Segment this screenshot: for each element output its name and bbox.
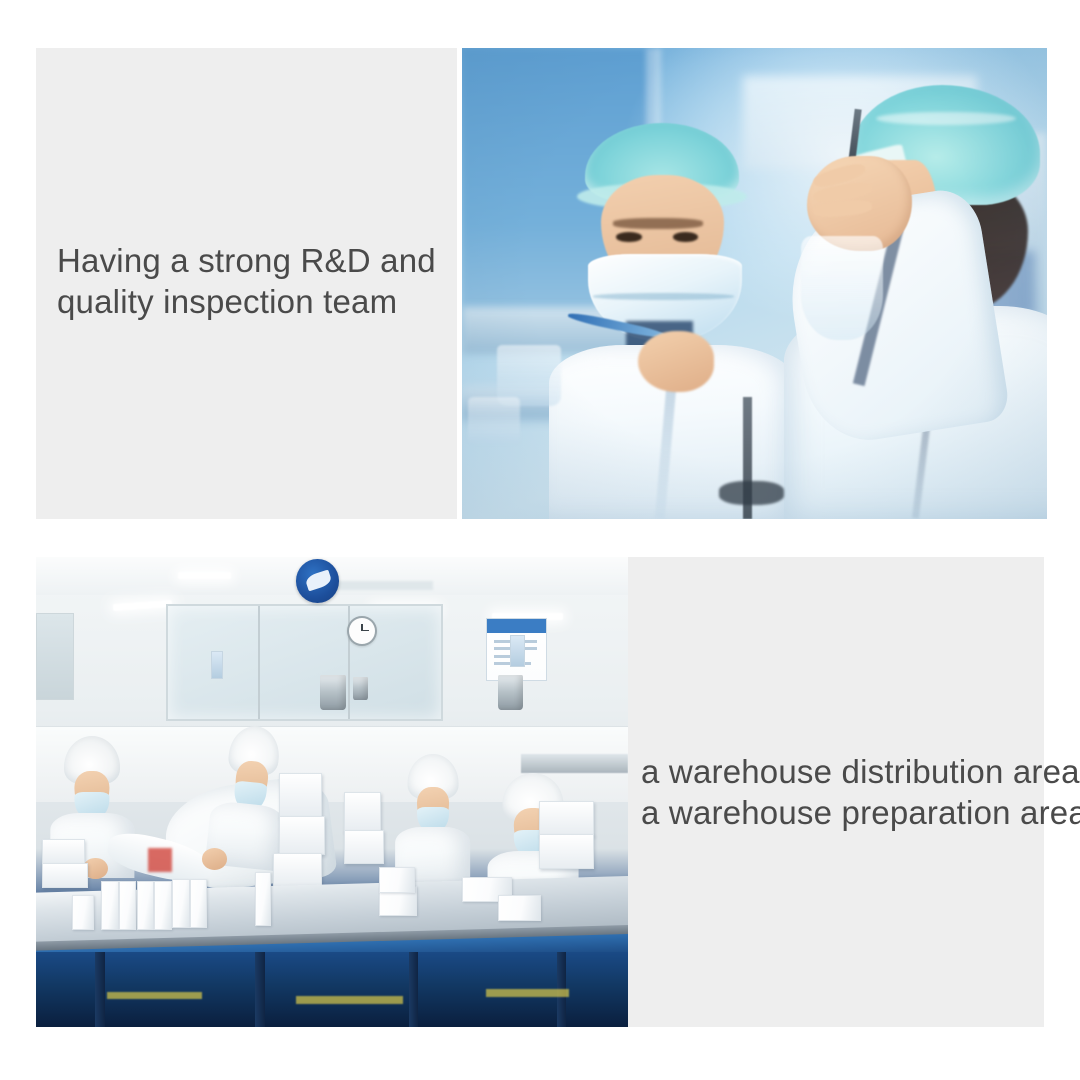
product-carton bbox=[137, 881, 154, 930]
carton-stack bbox=[279, 773, 322, 817]
stainless-container bbox=[498, 675, 523, 710]
worker-hand bbox=[202, 848, 227, 870]
carton-stack bbox=[42, 863, 88, 889]
lab-technicians-photo bbox=[462, 48, 1047, 519]
caption-warehouse-line-2: a warehouse preparation area bbox=[641, 792, 1080, 833]
caption-rd-line-2: quality inspection team bbox=[57, 281, 436, 322]
product-carton bbox=[154, 881, 171, 930]
product-carton bbox=[119, 881, 136, 930]
caption-rd-quality: Having a strong R&D and quality inspecti… bbox=[57, 240, 436, 322]
carton-stack bbox=[344, 830, 384, 865]
carton-stack bbox=[42, 839, 85, 865]
product-carton bbox=[172, 879, 189, 928]
caption-warehouse-areas: a warehouse distribution area a warehous… bbox=[641, 751, 1080, 833]
table-leg bbox=[95, 952, 104, 1027]
product-carton bbox=[379, 867, 414, 893]
carton-stack bbox=[344, 792, 382, 832]
floor-marking bbox=[107, 992, 202, 1000]
carton-stack bbox=[539, 834, 594, 869]
wall-clock-icon bbox=[347, 616, 377, 646]
floor-marking bbox=[296, 996, 403, 1004]
stainless-container bbox=[320, 675, 346, 710]
warehouse-packing-photo bbox=[36, 557, 628, 1027]
ceiling-light bbox=[178, 572, 231, 579]
wall-mounted-vial bbox=[211, 651, 224, 679]
page-root: Having a strong R&D and quality inspecti… bbox=[0, 0, 1080, 1080]
stainless-container bbox=[353, 677, 368, 701]
window-mullion bbox=[258, 606, 260, 719]
clock-minute-hand bbox=[361, 630, 368, 631]
red-object bbox=[148, 848, 172, 872]
product-carton bbox=[190, 879, 207, 928]
caption-rd-line-1: Having a strong R&D and bbox=[57, 240, 436, 281]
table-leg bbox=[409, 952, 418, 1027]
product-carton bbox=[72, 895, 94, 930]
blue-circular-sign-icon bbox=[296, 559, 339, 602]
cleanroom-window bbox=[166, 604, 442, 721]
table-leg bbox=[255, 952, 264, 1027]
notice-header bbox=[487, 619, 546, 632]
caption-warehouse-line-1: a warehouse distribution area bbox=[641, 751, 1080, 792]
product-carton bbox=[255, 872, 271, 926]
photo-vignette bbox=[462, 48, 1047, 519]
carton-stack bbox=[539, 801, 594, 836]
side-counter bbox=[521, 754, 628, 773]
side-window bbox=[36, 613, 74, 700]
product-carton bbox=[101, 881, 118, 930]
carton-stack bbox=[279, 816, 325, 856]
product-carton bbox=[498, 895, 541, 921]
wall-mounted-vial bbox=[510, 635, 525, 668]
carton-stack bbox=[273, 853, 322, 888]
floor-marking bbox=[486, 989, 569, 997]
